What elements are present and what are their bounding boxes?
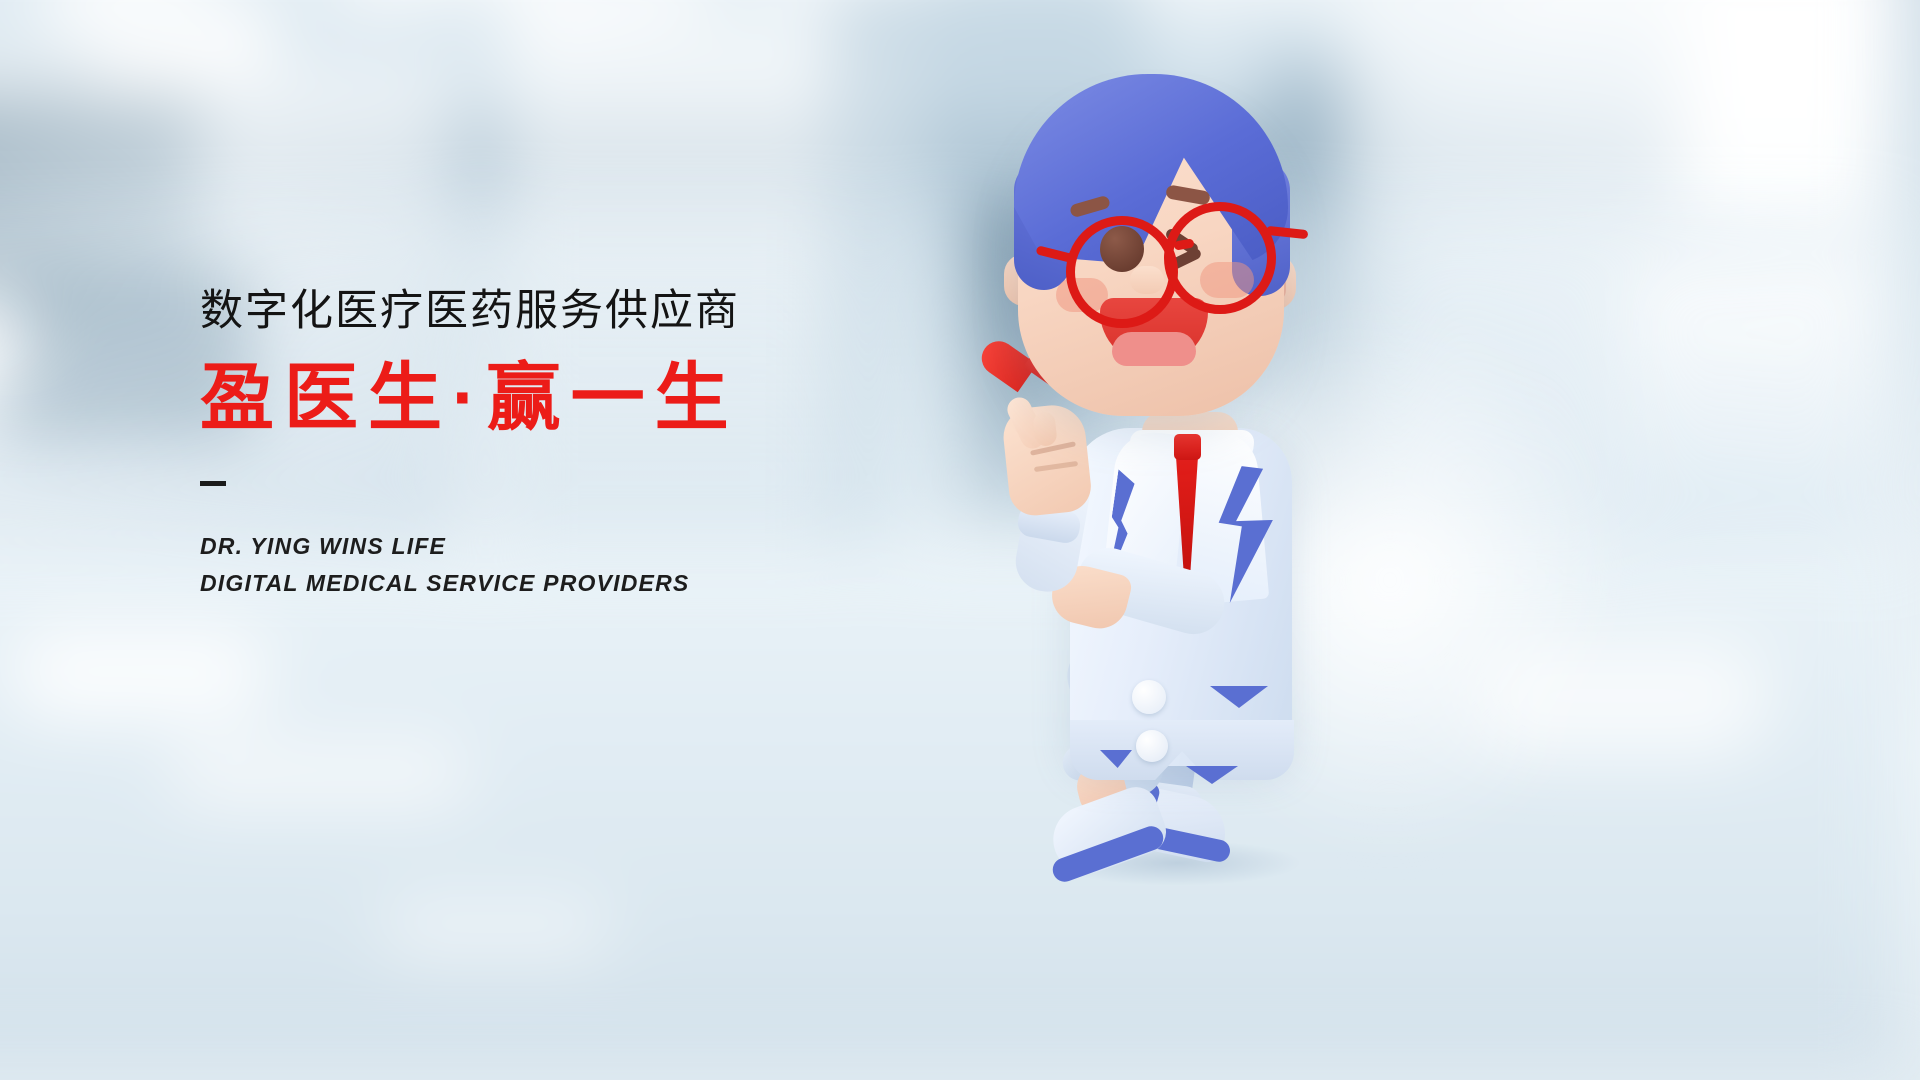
right-window-panel: [1680, 0, 1870, 210]
coat-button-2: [1136, 730, 1168, 762]
floor-glare-3: [380, 900, 610, 960]
coat-button-1: [1132, 680, 1166, 714]
glasses-lens-left: [1066, 216, 1178, 328]
hero-headline: 盈医生·赢一生: [200, 357, 960, 438]
hero-divider-rule: [200, 481, 226, 486]
tie-knot: [1174, 434, 1201, 460]
hero-text-block: 数字化医疗医药服务供应商 盈医生·赢一生 DR. YING WINS LIFE …: [200, 288, 960, 602]
doctor-mascot: [960, 40, 1420, 860]
tongue: [1112, 332, 1196, 366]
floor-glare-2: [170, 740, 470, 810]
hero-english-line-2: DIGITAL MEDICAL SERVICE PROVIDERS: [200, 565, 960, 602]
glasses-lens-right: [1164, 202, 1276, 314]
round-glasses-icon: [988, 202, 1298, 322]
hero-kicker: 数字化医疗医药服务供应商: [200, 288, 960, 335]
hero-english-block: DR. YING WINS LIFE DIGITAL MEDICAL SERVI…: [200, 528, 960, 603]
hero-banner: 数字化医疗医药服务供应商 盈医生·赢一生 DR. YING WINS LIFE …: [0, 0, 1920, 1080]
hero-english-line-1: DR. YING WINS LIFE: [200, 528, 960, 565]
floor-glare-1: [10, 630, 270, 720]
